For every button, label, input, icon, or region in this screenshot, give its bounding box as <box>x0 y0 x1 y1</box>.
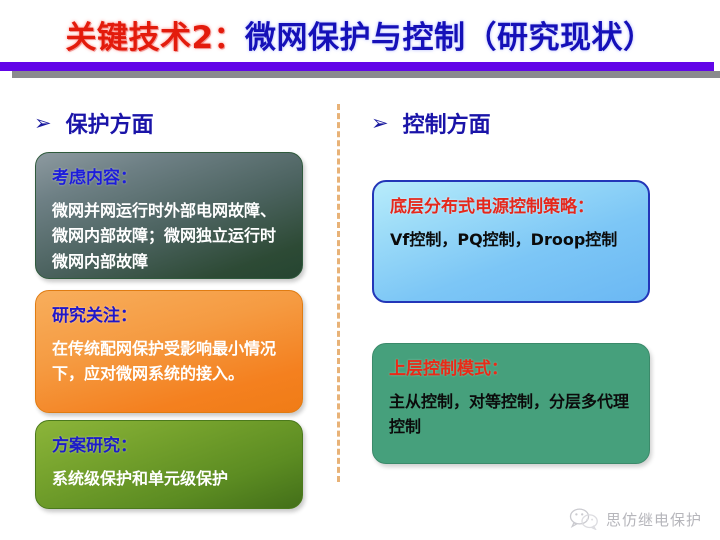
wechat-icon <box>569 508 599 530</box>
column-divider <box>337 104 340 482</box>
content-box-focus: 研究关注： 在传统配网保护受影响最小情况下，应对微网系统的接入。 <box>35 290 303 413</box>
content-box-focus-title: 研究关注： <box>52 304 286 330</box>
content-box-focus-body: 在传统配网保护受影响最小情况下，应对微网系统的接入。 <box>52 336 286 388</box>
page-title-main: 微网保护与控制（研究现状） <box>245 20 655 56</box>
content-box-scheme-title: 方案研究： <box>52 434 286 460</box>
content-box-upper-layer: 上层控制模式： 主从控制，对等控制，分层多代理控制 <box>372 343 650 464</box>
content-box-scheme-body: 系统级保护和单元级保护 <box>52 466 286 492</box>
title-rule-shadow <box>12 71 720 78</box>
column-header-protection: ➢ 保护方面 <box>34 107 154 139</box>
content-box-consider-body: 微网并网运行时外部电网故障、微网内部故障；微网独立运行时微网内部故障 <box>52 198 286 276</box>
page-title-prefix: 关键技术2： <box>65 20 245 56</box>
content-box-lower-layer-title: 底层分布式电源控制策略： <box>390 195 632 221</box>
column-header-protection-label: 保护方面 <box>66 107 154 139</box>
page-title: 关键技术2：微网保护与控制（研究现状） <box>0 12 720 57</box>
content-box-consider-title: 考虑内容： <box>52 166 286 192</box>
content-box-lower-layer: 底层分布式电源控制策略： Vf控制，PQ控制，Droop控制 <box>372 180 650 303</box>
column-header-control: ➢ 控制方面 <box>371 107 491 139</box>
slide-canvas: 关键技术2：微网保护与控制（研究现状） ➢ 保护方面 ➢ 控制方面 考虑内容： … <box>0 0 720 540</box>
content-box-consider: 考虑内容： 微网并网运行时外部电网故障、微网内部故障；微网独立运行时微网内部故障 <box>35 152 303 279</box>
content-box-upper-layer-body: 主从控制，对等控制，分层多代理控制 <box>389 389 633 441</box>
content-box-scheme: 方案研究： 系统级保护和单元级保护 <box>35 420 303 509</box>
content-box-upper-layer-title: 上层控制模式： <box>389 357 633 383</box>
arrow-bullet-icon: ➢ <box>371 113 389 134</box>
column-header-control-label: 控制方面 <box>403 107 491 139</box>
watermark: 思仿继电保护 <box>569 508 702 530</box>
arrow-bullet-icon: ➢ <box>34 113 52 134</box>
content-box-lower-layer-body: Vf控制，PQ控制，Droop控制 <box>390 227 632 253</box>
title-rule <box>0 62 714 71</box>
watermark-text: 思仿继电保护 <box>606 509 702 530</box>
